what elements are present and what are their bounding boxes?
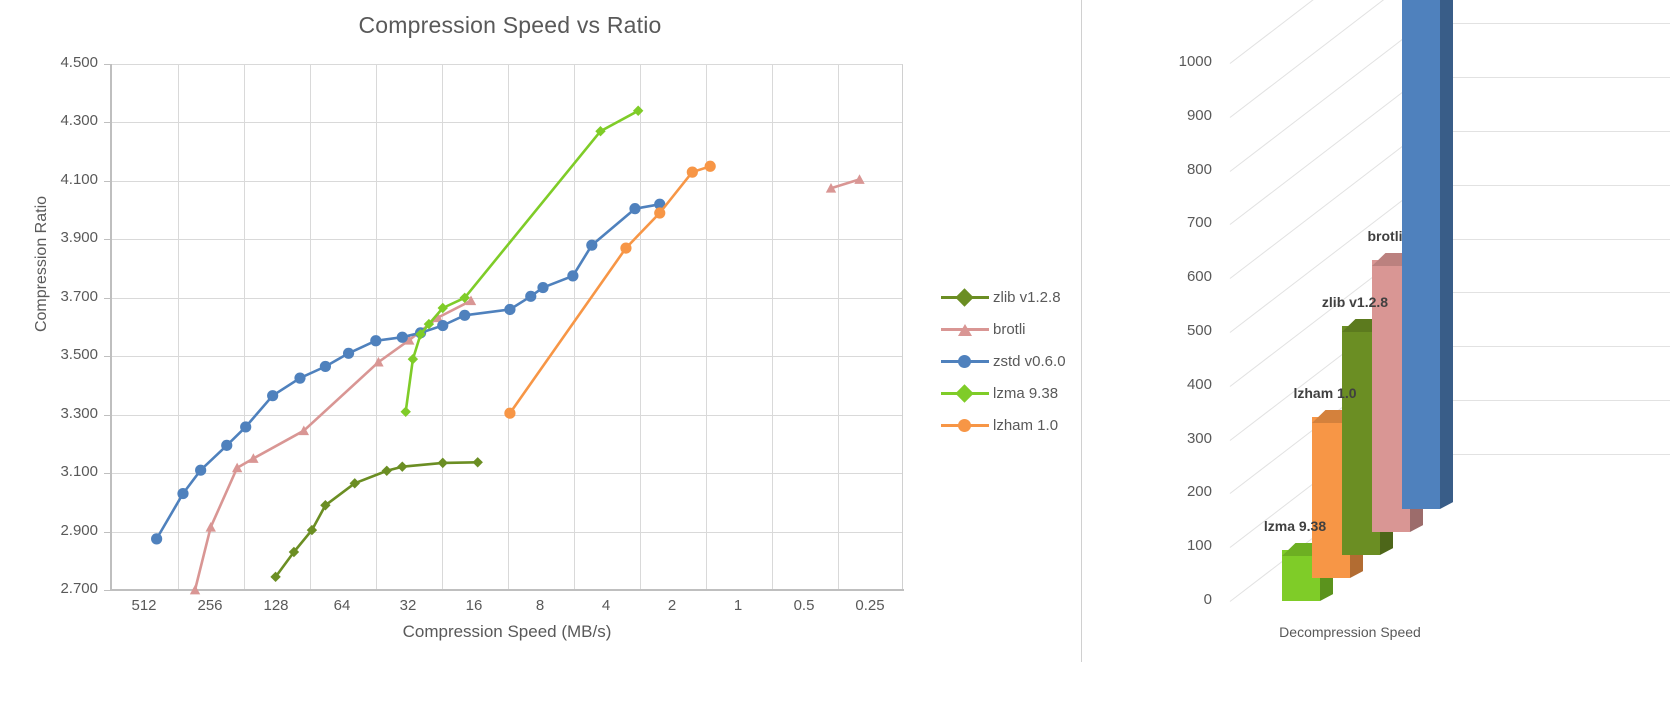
series-zlib-v1-2-8 [270,457,483,582]
data-point-marker [320,361,331,372]
data-point-marker [504,408,515,419]
series-line [195,301,471,590]
series-zstd-v0-6-0 [151,199,665,545]
data-point-marker [401,407,411,417]
bar-y-tick-label: 100 [1152,537,1212,554]
bar-data-label: zlib v1.2.8 [1290,294,1420,310]
legend-marker-diamond-icon [955,288,973,306]
bar-side-face [1440,0,1453,509]
data-point-marker [620,243,631,254]
bar-horizontal-gridline [1422,292,1670,293]
bar-y-tick-label: 600 [1152,268,1212,285]
data-point-marker [504,304,515,315]
legend-key-icon [941,354,989,368]
data-point-marker [206,522,216,532]
data-point-marker [370,335,381,346]
bar-depth-gridline [1230,0,1423,64]
data-point-marker [437,320,448,331]
legend-item-label: lzham 1.0 [993,417,1058,434]
legend-key-icon [941,386,989,400]
bar-y-tick-label: 400 [1152,376,1212,393]
legend-item-label: zlib v1.2.8 [993,289,1061,306]
bar-horizontal-gridline [1422,131,1670,132]
data-point-marker [629,203,640,214]
data-point-marker [854,174,864,184]
series-line [276,462,478,577]
legend-item-lzma-9-38[interactable]: lzma 9.38 [941,377,1066,409]
series-line [406,111,639,412]
data-point-marker [705,161,716,172]
bar-data-label: lzma 9.38 [1230,518,1360,534]
chart-page: Compression Speed vs Ratio Compression R… [0,0,1670,705]
legend-item-label: lzma 9.38 [993,385,1058,402]
series-lzma-9-38 [401,106,644,417]
data-point-marker [525,291,536,302]
data-point-marker [567,270,578,281]
legend-marker-circle-icon [958,419,971,432]
legend-item-label: brotli [993,321,1026,338]
bar-y-tick-label: 500 [1152,322,1212,339]
legend-item-brotli[interactable]: brotli [941,313,1066,345]
legend-item-zlib-v1-2-8[interactable]: zlib v1.2.8 [941,281,1066,313]
series-line [157,204,660,539]
legend-marker-diamond-icon [955,384,973,402]
data-point-marker [459,310,470,321]
data-point-marker [586,240,597,251]
legend-item-label: zstd v0.6.0 [993,353,1066,370]
data-point-marker [438,458,448,468]
legend-marker-circle-icon [958,355,971,368]
data-point-marker [408,354,418,364]
data-point-marker [151,533,162,544]
data-point-marker [687,167,698,178]
series-lzham-1-0 [504,161,715,419]
data-point-marker [177,488,188,499]
bar-chart-category-label: Decompression Speed [1260,623,1440,642]
bar-horizontal-gridline [1422,239,1670,240]
data-point-marker [397,332,408,343]
bar-data-label: brotli [1320,228,1450,244]
bar-horizontal-gridline [1422,77,1670,78]
data-point-marker [232,463,242,473]
data-point-marker [633,106,643,116]
data-point-marker [294,373,305,384]
bar-depth-gridline [1230,0,1423,118]
bar-chart-panel: 10009008007006005004003002001000 lzma 9.… [1085,0,1670,705]
legend-item-zstd-v0-6-0[interactable]: zstd v0.6.0 [941,345,1066,377]
bar-y-tick-label: 1000 [1152,53,1212,70]
data-point-marker [382,466,392,476]
panel-divider [1081,0,1082,662]
data-point-marker [267,390,278,401]
legend-item-lzham-1-0[interactable]: lzham 1.0 [941,409,1066,441]
scatter-chart-panel: Compression Speed vs Ratio Compression R… [0,0,1082,705]
data-point-marker [654,207,665,218]
bar-horizontal-gridline [1422,346,1670,347]
legend-key-icon [941,290,989,304]
data-point-marker [190,585,200,595]
bar-data-label: lzham 1.0 [1260,385,1390,401]
data-point-marker [537,282,548,293]
legend-key-icon [941,418,989,432]
data-point-marker [473,457,483,467]
bar-front-face [1402,0,1440,509]
data-point-marker [397,461,407,471]
bar-y-tick-label: 200 [1152,483,1212,500]
bar-y-tick-label: 700 [1152,214,1212,231]
bar-zstd-v0-6-0[interactable] [1402,0,1440,509]
bar-horizontal-gridline [1422,454,1670,455]
data-point-marker [195,465,206,476]
bar-y-tick-label: 0 [1152,591,1212,608]
legend-key-icon [941,322,989,336]
bar-y-tick-label: 900 [1152,107,1212,124]
bar-y-tick-label: 800 [1152,161,1212,178]
scatter-series-layer [0,0,1082,705]
data-point-marker [248,453,258,463]
bar-horizontal-gridline [1422,400,1670,401]
scatter-legend: zlib v1.2.8brotlizstd v0.6.0lzma 9.38lzh… [941,281,1066,441]
data-point-marker [221,440,232,451]
data-point-marker [343,348,354,359]
bar-horizontal-gridline [1422,185,1670,186]
bar-horizontal-gridline [1422,23,1670,24]
bar-y-tick-label: 300 [1152,430,1212,447]
legend-marker-triangle-icon [958,324,972,336]
data-point-marker [240,421,251,432]
